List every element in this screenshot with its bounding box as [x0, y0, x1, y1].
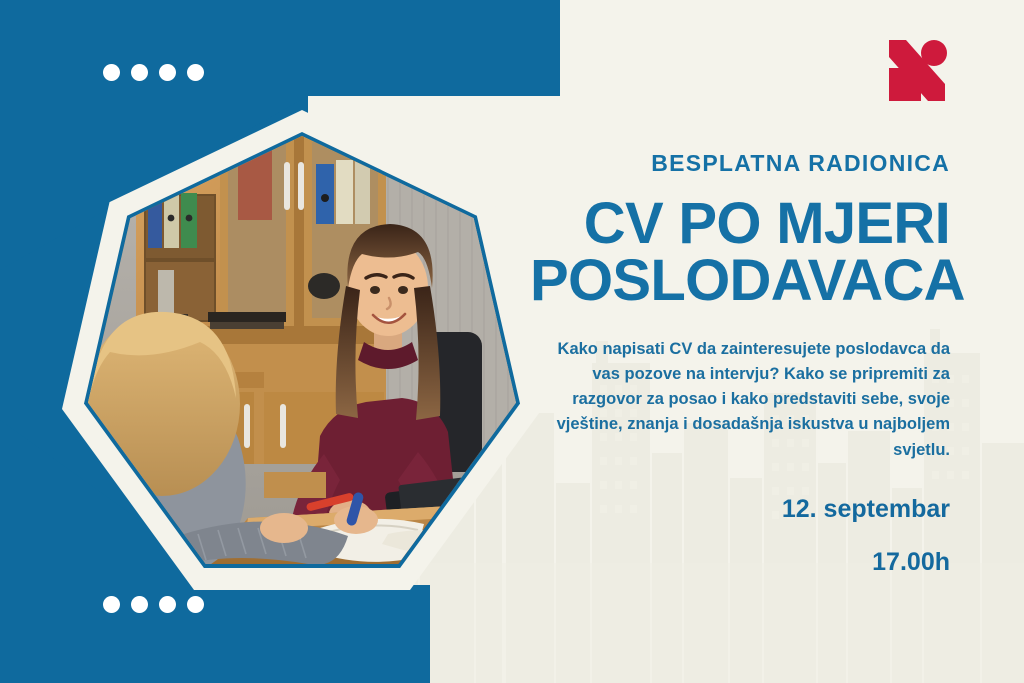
- dot: [131, 596, 148, 613]
- brand-logo[interactable]: [884, 38, 950, 104]
- dot: [159, 596, 176, 613]
- event-time: 17.00h: [530, 522, 950, 575]
- dot: [103, 64, 120, 81]
- dot: [131, 64, 148, 81]
- decorative-dots-top: [103, 64, 204, 81]
- event-date: 12. septembar: [530, 463, 950, 522]
- stylized-n-icon: [884, 38, 950, 104]
- dot: [159, 64, 176, 81]
- decorative-dots-bottom: [103, 596, 204, 613]
- dot: [187, 596, 204, 613]
- poster-canvas: BESPLATNA RADIONICA CV PO MJERI POSLODAV…: [0, 0, 1024, 683]
- description-text: Kako napisati CV da zainteresujete poslo…: [530, 309, 950, 462]
- career-counselling-photo: [62, 110, 542, 590]
- dot: [103, 596, 120, 613]
- page-title: CV PO MJERI POSLODAVACA: [530, 175, 950, 309]
- dot: [187, 64, 204, 81]
